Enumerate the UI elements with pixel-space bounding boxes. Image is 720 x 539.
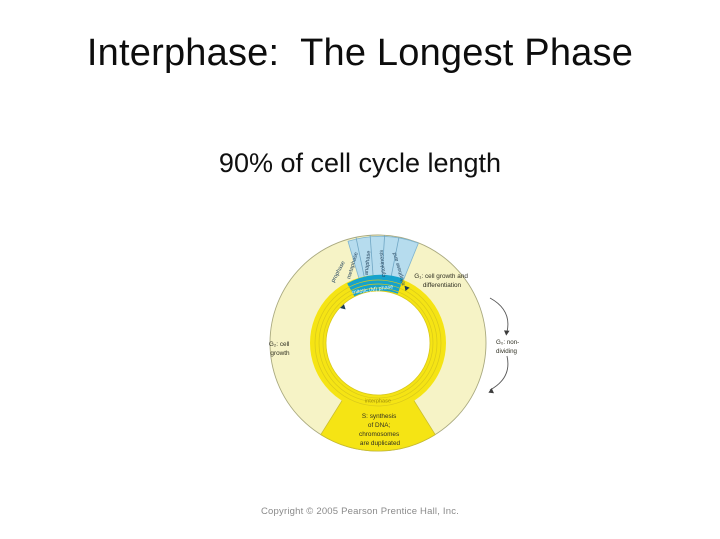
g0-arrowhead-lower <box>488 388 494 393</box>
presentation-slide: Interphase: The Longest Phase 90% of cel… <box>0 0 720 539</box>
g0-arrowhead-upper <box>504 330 510 335</box>
page-title: Interphase: The Longest Phase <box>0 32 720 75</box>
copyright-notice: Copyright © 2005 Pearson Prentice Hall, … <box>0 506 720 517</box>
label-interphase: interphase <box>365 399 391 405</box>
label-g0-non-dividing: G₀: non- dividing <box>496 339 521 355</box>
cell-cycle-diagram: prophase metaphase anaphase cytokinesis … <box>190 190 570 500</box>
slide-subtitle: 90% of cell cycle length <box>0 148 720 179</box>
cell-cycle-figure: prophase metaphase anaphase cytokinesis … <box>190 190 570 500</box>
